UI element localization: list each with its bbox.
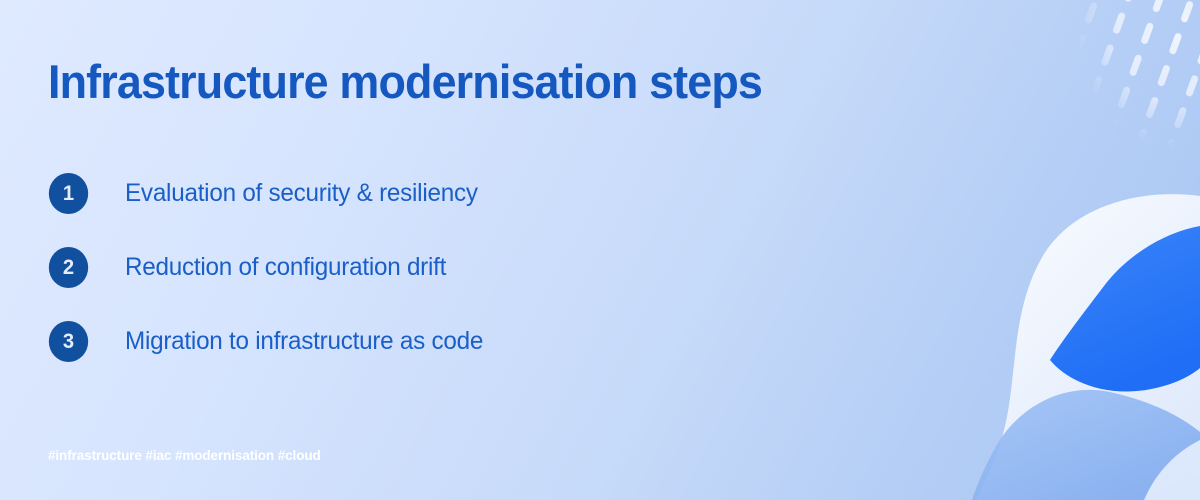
- step-number-badge: 1: [49, 173, 88, 214]
- step-label: Reduction of configuration drift: [125, 253, 446, 282]
- step-number-badge: 3: [49, 321, 88, 362]
- step-label: Migration to infrastructure as code: [125, 327, 483, 356]
- banner: Infrastructure modernisation steps 1 Eva…: [0, 0, 1200, 500]
- page-title: Infrastructure modernisation steps: [48, 54, 762, 109]
- hashtags: #infrastructure #iac #modernisation #clo…: [48, 448, 321, 463]
- list-item: 3 Migration to infrastructure as code: [48, 320, 494, 362]
- banner-content: Infrastructure modernisation steps 1 Eva…: [0, 0, 1200, 500]
- step-label: Evaluation of security & resiliency: [125, 179, 478, 208]
- step-number-badge: 2: [49, 247, 88, 288]
- list-item: 1 Evaluation of security & resiliency: [48, 172, 494, 214]
- list-item: 2 Reduction of configuration drift: [48, 246, 494, 288]
- steps-list: 1 Evaluation of security & resiliency 2 …: [48, 172, 494, 362]
